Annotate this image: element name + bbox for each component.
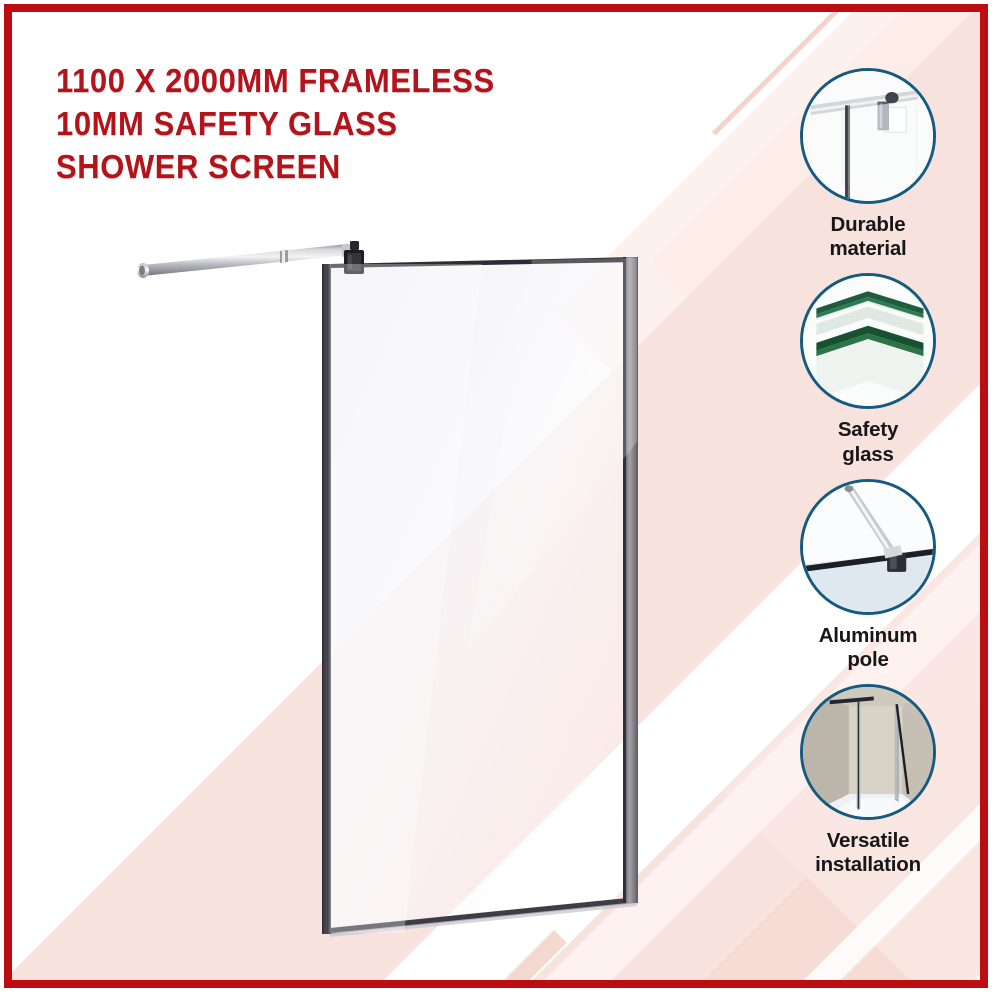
red-border-frame: 1100 X 2000MM FRAMELESS 10MM SAFETY GLAS…	[4, 4, 988, 988]
feature-label-line2: installation	[770, 853, 966, 877]
feature-durable-material[interactable]: Durable material	[770, 68, 966, 261]
feature-safety-glass[interactable]: Safety glass	[770, 273, 966, 466]
feature-label: Versatile installation	[770, 829, 966, 877]
feature-versatile-installation[interactable]: Versatile installation	[770, 684, 966, 877]
safety-glass-icon	[800, 273, 936, 409]
product-image-canvas: 1100 X 2000MM FRAMELESS 10MM SAFETY GLAS…	[0, 0, 1000, 1000]
feature-aluminum-pole[interactable]: Aluminum pole	[770, 479, 966, 672]
feature-label-line1: Safety	[770, 418, 966, 442]
feature-list: Durable material	[770, 68, 966, 890]
feature-label: Durable material	[770, 213, 966, 261]
feature-label-line2: material	[770, 237, 966, 261]
feature-label: Aluminum pole	[770, 624, 966, 672]
support-pole-assembly	[137, 244, 351, 278]
feature-label-line1: Durable	[770, 213, 966, 237]
feature-label-line2: pole	[770, 648, 966, 672]
wall-mount-flange-inner	[139, 266, 145, 276]
support-pole-tube	[143, 244, 348, 276]
feature-label: Safety glass	[770, 418, 966, 466]
versatile-installation-icon	[800, 684, 936, 820]
feature-label-line1: Aluminum	[770, 624, 966, 648]
durable-material-icon	[800, 68, 936, 204]
pole-joint-highlight	[282, 251, 285, 263]
feature-label-line2: glass	[770, 443, 966, 467]
aluminum-pole-icon	[800, 479, 936, 615]
feature-label-line1: Versatile	[770, 829, 966, 853]
